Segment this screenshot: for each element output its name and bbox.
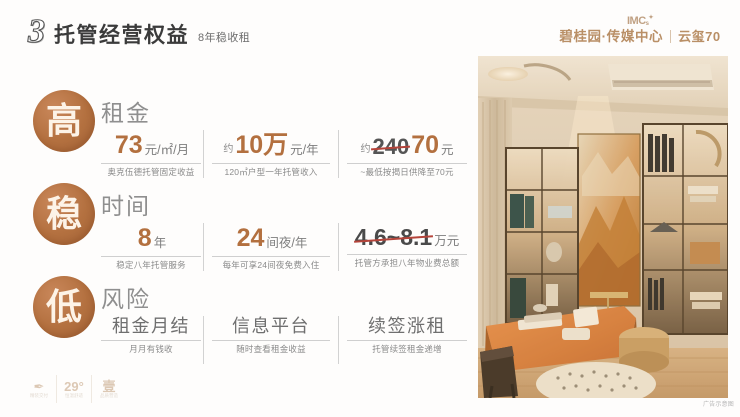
metric-value: 73 — [115, 133, 143, 158]
row-label: 风险 — [101, 288, 151, 311]
metric-struck-value: 240 — [372, 136, 409, 158]
column-divider — [203, 316, 204, 364]
badge-circle: 低 — [33, 276, 95, 338]
metric-subtext: 托管续签租金递增 — [347, 345, 467, 354]
metric-subtext: 随时查看租金收益 — [212, 345, 330, 354]
metric-cell: 租金月结 月月有钱收 — [101, 317, 201, 354]
brand-name: 碧桂园·传媒中心 — [559, 30, 663, 44]
metric-rule — [347, 163, 467, 164]
brand-mark-subscript: s — [646, 21, 649, 27]
brand-mark: IMCs✦ — [627, 15, 653, 27]
metric-value: 24 — [237, 226, 265, 251]
metric-prefix: 约 — [223, 145, 233, 158]
metric-rule — [101, 340, 201, 341]
metric-rule — [212, 163, 330, 164]
metric-unit: 年 — [154, 237, 167, 252]
column-divider — [338, 316, 339, 364]
quality-icon: 壹 品质营造 — [92, 375, 126, 403]
metric-value: 信息平台 — [232, 317, 310, 335]
metric-unit: 元/㎡/月 — [145, 144, 189, 159]
metric-subtext: 120㎡户型一年托管收入 — [212, 168, 330, 177]
metric-cell: 8 年 稳定八年托管服务 — [101, 226, 201, 270]
brand-project-name: 云玺70 — [678, 30, 720, 43]
metric-subtext: 奥克伍德托管固定收益 — [101, 168, 201, 177]
metric-cell: 约 240 70 元 ~最低按揭日供降至70元 — [347, 133, 467, 177]
metric-cell: 约 10万 元/年 120㎡户型一年托管收入 — [212, 133, 330, 177]
metric-rule — [101, 256, 201, 257]
photo-disclaimer: 广告示意图 — [664, 402, 734, 408]
seal-icon: 壹 — [102, 380, 115, 393]
brand-mark-star-icon: ✦ — [648, 15, 653, 21]
metric-cell: 73 元/㎡/月 奥克伍德托管固定收益 — [101, 133, 201, 177]
metric-prefix: 约 — [360, 145, 370, 158]
row-label: 租金 — [101, 102, 151, 125]
metric-rule — [347, 340, 467, 341]
metric-subtext: 月月有钱收 — [101, 345, 201, 354]
metric-rule — [212, 340, 330, 341]
metric-subtext: 每年可享24间夜免费入住 — [212, 261, 330, 270]
metric-rule — [101, 163, 201, 164]
metric-value: 70 — [411, 133, 439, 158]
metric-value: 4.6~8.1 — [355, 226, 432, 249]
thermometer-icon: 29° — [64, 380, 84, 393]
metric-subtext: 稳定八年托管服务 — [101, 261, 201, 270]
column-divider — [203, 223, 204, 271]
brand-logo: IMCs✦ 碧桂园·传媒中心 云玺70 — [545, 8, 735, 50]
metric-unit: 万元 — [434, 235, 459, 250]
metric-cell: 续签涨租 托管续签租金递增 — [347, 317, 467, 354]
brand-mark-text: IMC — [627, 15, 646, 27]
metric-cell: 信息平台 随时查看租金收益 — [212, 317, 330, 354]
section-heading: 3 托管经营权益 8年稳收租 — [28, 18, 250, 47]
metric-unit: 元/年 — [290, 144, 318, 159]
section-number: 3 — [28, 18, 45, 47]
section-kicker: 8年稳收租 — [198, 33, 250, 47]
metric-value: 租金月结 — [112, 317, 190, 335]
metric-cell: 4.6~8.1 万元 托管方承担八年物业费总额 — [347, 226, 467, 268]
metric-unit: 间夜/年 — [266, 237, 307, 252]
row-label: 时间 — [101, 195, 151, 218]
slide-canvas: IMCs✦ 碧桂园·传媒中心 云玺70 3 托管经营权益 8年稳收租 高 租金 … — [0, 0, 740, 417]
metric-rule — [212, 256, 330, 257]
benefit-row: 稳 时间 8 年 稳定八年托管服务 24 间夜/年 每年可享24间夜免费入住 — [0, 177, 470, 270]
column-divider — [203, 130, 204, 178]
metric-rule — [347, 254, 467, 255]
interior-photo-illustration — [478, 56, 728, 398]
metric-unit: 元 — [441, 144, 454, 159]
metric-value: 10万 — [235, 133, 288, 158]
benefit-rows: 高 租金 73 元/㎡/月 奥克伍德托管固定收益 约 10万 元/年 120㎡户 — [0, 84, 470, 363]
benefit-row: 低 风险 租金月结 月月有钱收 信息平台 随时查看租金收益 续签涨租 — [0, 270, 470, 363]
page-title: 托管经营权益 — [54, 25, 189, 47]
metric-subtext: ~最低按揭日供降至70元 — [347, 168, 467, 177]
feature-icon-strip: ✒ 精装交付 29° 恒温舒适 壹 品质营造 — [22, 375, 126, 403]
metric-subtext: 托管方承担八年物业费总额 — [347, 259, 467, 268]
icon-caption: 精装交付 — [30, 394, 48, 399]
metric-value: 续签涨租 — [368, 317, 446, 335]
metric-cell: 24 间夜/年 每年可享24间夜免费入住 — [212, 226, 330, 270]
icon-caption: 恒温舒适 — [65, 394, 83, 399]
column-divider — [338, 130, 339, 178]
pen-icon: ✒ — [34, 380, 45, 393]
icon-caption: 品质营造 — [100, 394, 118, 399]
metric-value: 8 — [138, 226, 152, 251]
interior-photo — [478, 56, 728, 398]
brand-divider — [670, 30, 671, 43]
badge-circle: 高 — [33, 90, 95, 152]
temperature-icon: 29° 恒温舒适 — [57, 375, 92, 403]
benefit-row: 高 租金 73 元/㎡/月 奥克伍德托管固定收益 约 10万 元/年 120㎡户 — [0, 84, 470, 177]
signature-icon: ✒ 精装交付 — [22, 375, 57, 403]
badge-circle: 稳 — [33, 183, 95, 245]
column-divider — [338, 223, 339, 271]
